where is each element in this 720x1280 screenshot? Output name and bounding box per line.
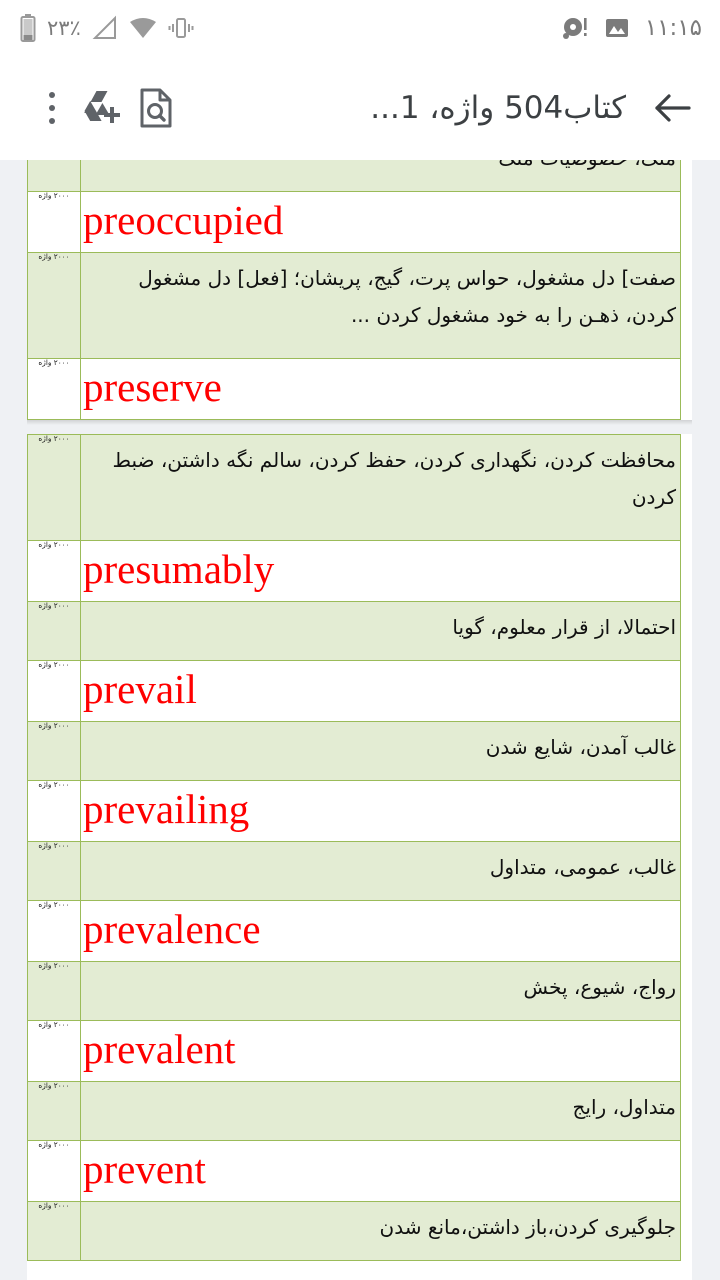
table-row[interactable]: ۲۰۰۰ واژهpreoccupied bbox=[28, 192, 681, 253]
overflow-menu-icon bbox=[49, 92, 55, 124]
document-search-button[interactable] bbox=[130, 82, 182, 134]
definition-cell[interactable]: متداول، رایج bbox=[81, 1082, 681, 1141]
persian-definition: غالب، عمومی، متداول bbox=[81, 842, 680, 900]
row-marker-cell: ۲۰۰۰ واژه bbox=[28, 1082, 81, 1141]
marker-label: ۲۰۰۰ واژه bbox=[30, 781, 78, 788]
definition-cell[interactable]: غالب آمدن، شایع شدن bbox=[81, 722, 681, 781]
word-cell[interactable]: preserve bbox=[81, 359, 681, 420]
row-marker-cell: ۲۰۰۰ واژه bbox=[28, 435, 81, 541]
marker-label: ۲۰۰۰ واژه bbox=[30, 1082, 78, 1089]
marker-label: ۲۰۰۰ واژه bbox=[30, 602, 78, 609]
row-marker-cell: ۲۰۰۰ واژه bbox=[28, 661, 81, 722]
marker-label: ۲۰۰۰ واژه bbox=[30, 541, 78, 548]
marker-label: ۲۰۰۰ واژه bbox=[30, 901, 78, 908]
document-page: ۲۰۰۰ واژهمحافظت کردن، نگهداری کردن، حفظ … bbox=[27, 434, 692, 1280]
row-marker-cell: ۲۰۰۰ واژه bbox=[28, 962, 81, 1021]
word-cell[interactable]: prevailing bbox=[81, 781, 681, 842]
table-row[interactable]: ۲۰۰۰ واژهصفت] دل مشغول، حواس پرت، گیج، پ… bbox=[28, 253, 681, 359]
page-break bbox=[0, 420, 720, 434]
table-row[interactable]: ۲۰۰۰ واژهرواج، شیوع، پخش bbox=[28, 962, 681, 1021]
persian-definition: صفت] دل مشغول، حواس پرت، گیج، پریشان؛ [ف… bbox=[81, 253, 680, 358]
photo-icon bbox=[605, 16, 629, 40]
table-row[interactable]: ۲۰۰۰ واژهمتداول، رایج bbox=[28, 1082, 681, 1141]
battery-percent-label: ۲۳٪ bbox=[47, 18, 81, 39]
row-marker-cell: ۲۰۰۰ واژه bbox=[28, 253, 81, 359]
back-button[interactable] bbox=[646, 82, 698, 134]
marker-label: ۲۰۰۰ واژه bbox=[30, 661, 78, 668]
definition-cell[interactable]: رواج، شیوع، پخش bbox=[81, 962, 681, 1021]
english-word: prevalent bbox=[81, 1021, 680, 1077]
table-row[interactable]: ۲۰۰۰ واژهملک، خصوصیات ملک bbox=[28, 160, 681, 192]
persian-definition: محافظت کردن، نگهداری کردن، حفظ کردن، سال… bbox=[81, 435, 680, 540]
marker-label: ۲۰۰۰ واژه bbox=[30, 1202, 78, 1209]
table-row[interactable]: ۲۰۰۰ واژهprevalence bbox=[28, 901, 681, 962]
english-word: prevailing bbox=[81, 781, 680, 837]
marker-label: ۲۰۰۰ واژه bbox=[30, 192, 78, 199]
marker-label: ۲۰۰۰ واژه bbox=[30, 253, 78, 260]
row-marker-cell: ۲۰۰۰ واژه bbox=[28, 781, 81, 842]
marker-label: ۲۰۰۰ واژه bbox=[30, 359, 78, 366]
marker-label: ۲۰۰۰ واژه bbox=[30, 435, 78, 442]
add-to-drive-button[interactable] bbox=[78, 82, 130, 134]
english-word: prevail bbox=[81, 661, 680, 717]
word-cell[interactable]: presumably bbox=[81, 541, 681, 602]
battery-icon bbox=[20, 14, 36, 42]
persian-definition: غالب آمدن، شایع شدن bbox=[81, 722, 680, 780]
word-cell[interactable]: prevail bbox=[81, 661, 681, 722]
marker-label: ۲۰۰۰ واژه bbox=[30, 962, 78, 969]
persian-definition: جلوگیری کردن،باز داشتن،مانع شدن bbox=[81, 1202, 680, 1260]
document-page: ۲۰۰۰ واژهملک، خصوصیات ملک۲۰۰۰ واژهpreocc… bbox=[27, 160, 692, 420]
row-marker-cell: ۲۰۰۰ واژه bbox=[28, 722, 81, 781]
english-word: preoccupied bbox=[81, 192, 680, 248]
english-word: preserve bbox=[81, 359, 680, 415]
english-word: prevent bbox=[81, 1141, 680, 1197]
definition-cell[interactable]: احتمالا، از قرار معلوم، گویا bbox=[81, 602, 681, 661]
back-arrow-icon bbox=[652, 91, 692, 125]
persian-definition: احتمالا، از قرار معلوم، گویا bbox=[81, 602, 680, 660]
app-bar: کتاب504 واژه، 1... bbox=[0, 56, 720, 160]
status-bar-left: ۲۳٪ bbox=[20, 14, 194, 42]
table-row[interactable]: ۲۰۰۰ واژهجلوگیری کردن،باز داشتن،مانع شدن bbox=[28, 1202, 681, 1261]
english-word: presumably bbox=[81, 541, 680, 597]
row-marker-cell: ۲۰۰۰ واژه bbox=[28, 1141, 81, 1202]
table-row[interactable]: ۲۰۰۰ واژهغالب آمدن، شایع شدن bbox=[28, 722, 681, 781]
table-row[interactable]: ۲۰۰۰ واژهprevail bbox=[28, 661, 681, 722]
marker-label: ۲۰۰۰ واژه bbox=[30, 1021, 78, 1028]
word-cell[interactable]: preoccupied bbox=[81, 192, 681, 253]
definition-cell[interactable]: جلوگیری کردن،باز داشتن،مانع شدن bbox=[81, 1202, 681, 1261]
alarm-alert-icon bbox=[563, 16, 589, 40]
table-row[interactable]: ۲۰۰۰ واژهمحافظت کردن، نگهداری کردن، حفظ … bbox=[28, 435, 681, 541]
vibrate-icon bbox=[168, 16, 194, 40]
row-marker-cell: ۲۰۰۰ واژه bbox=[28, 901, 81, 962]
table-row[interactable]: ۲۰۰۰ واژهprevailing bbox=[28, 781, 681, 842]
definition-cell[interactable]: محافظت کردن، نگهداری کردن، حفظ کردن، سال… bbox=[81, 435, 681, 541]
word-cell[interactable]: prevalence bbox=[81, 901, 681, 962]
page-title: کتاب504 واژه، 1... bbox=[182, 90, 646, 126]
definition-cell[interactable]: صفت] دل مشغول، حواس پرت، گیج، پریشان؛ [ف… bbox=[81, 253, 681, 359]
add-to-drive-icon bbox=[83, 89, 125, 127]
persian-definition: ملک، خصوصیات ملک bbox=[81, 160, 680, 191]
definition-cell[interactable]: غالب، عمومی، متداول bbox=[81, 842, 681, 901]
table-row[interactable]: ۲۰۰۰ واژهprevalent bbox=[28, 1021, 681, 1082]
pages-host: ۲۰۰۰ واژهملک، خصوصیات ملک۲۰۰۰ واژهpreocc… bbox=[0, 160, 720, 1280]
document-search-icon bbox=[137, 87, 175, 129]
marker-label: ۲۰۰۰ واژه bbox=[30, 1141, 78, 1148]
english-word: prevalence bbox=[81, 901, 680, 957]
app-root: ۲۳٪ bbox=[0, 0, 720, 1280]
signal-triangle-icon bbox=[92, 15, 118, 41]
row-marker-cell: ۲۰۰۰ واژه bbox=[28, 842, 81, 901]
table-row[interactable]: ۲۰۰۰ واژهprevent bbox=[28, 1141, 681, 1202]
persian-definition: متداول، رایج bbox=[81, 1082, 680, 1140]
wifi-icon bbox=[129, 16, 157, 40]
row-marker-cell: ۲۰۰۰ واژه bbox=[28, 1202, 81, 1261]
definition-cell[interactable]: ملک، خصوصیات ملک bbox=[81, 160, 681, 192]
table-row[interactable]: ۲۰۰۰ واژهغالب، عمومی، متداول bbox=[28, 842, 681, 901]
page-bottom-margin bbox=[27, 1261, 692, 1280]
row-marker-cell: ۲۰۰۰ واژه bbox=[28, 359, 81, 420]
row-marker-cell: ۲۰۰۰ واژه bbox=[28, 541, 81, 602]
table-row[interactable]: ۲۰۰۰ واژهpresumably bbox=[28, 541, 681, 602]
table-row[interactable]: ۲۰۰۰ واژهاحتمالا، از قرار معلوم، گویا bbox=[28, 602, 681, 661]
row-marker-cell: ۲۰۰۰ واژه bbox=[28, 602, 81, 661]
row-marker-cell: ۲۰۰۰ واژه bbox=[28, 1021, 81, 1082]
status-bar: ۲۳٪ bbox=[0, 0, 720, 56]
word-cell[interactable]: prevalent bbox=[81, 1021, 681, 1082]
document-viewport[interactable]: ۲۰۰۰ واژهملک، خصوصیات ملک۲۰۰۰ واژهpreocc… bbox=[0, 160, 720, 1280]
persian-definition: رواج، شیوع، پخش bbox=[81, 962, 680, 1020]
vocabulary-table: ۲۰۰۰ واژهمحافظت کردن، نگهداری کردن، حفظ … bbox=[27, 434, 681, 1261]
clock-label: ۱۱:۱۵ bbox=[645, 17, 702, 40]
more-options-button[interactable] bbox=[26, 82, 78, 134]
marker-label: ۲۰۰۰ واژه bbox=[30, 722, 78, 729]
row-marker-cell: ۲۰۰۰ واژه bbox=[28, 160, 81, 192]
marker-label: ۲۰۰۰ واژه bbox=[30, 842, 78, 849]
vocabulary-table: ۲۰۰۰ واژهملک، خصوصیات ملک۲۰۰۰ واژهpreocc… bbox=[27, 160, 681, 420]
table-row[interactable]: ۲۰۰۰ واژهpreserve bbox=[28, 359, 681, 420]
row-marker-cell: ۲۰۰۰ واژه bbox=[28, 192, 81, 253]
status-bar-right: ۱۱:۱۵ bbox=[563, 16, 702, 40]
word-cell[interactable]: prevent bbox=[81, 1141, 681, 1202]
